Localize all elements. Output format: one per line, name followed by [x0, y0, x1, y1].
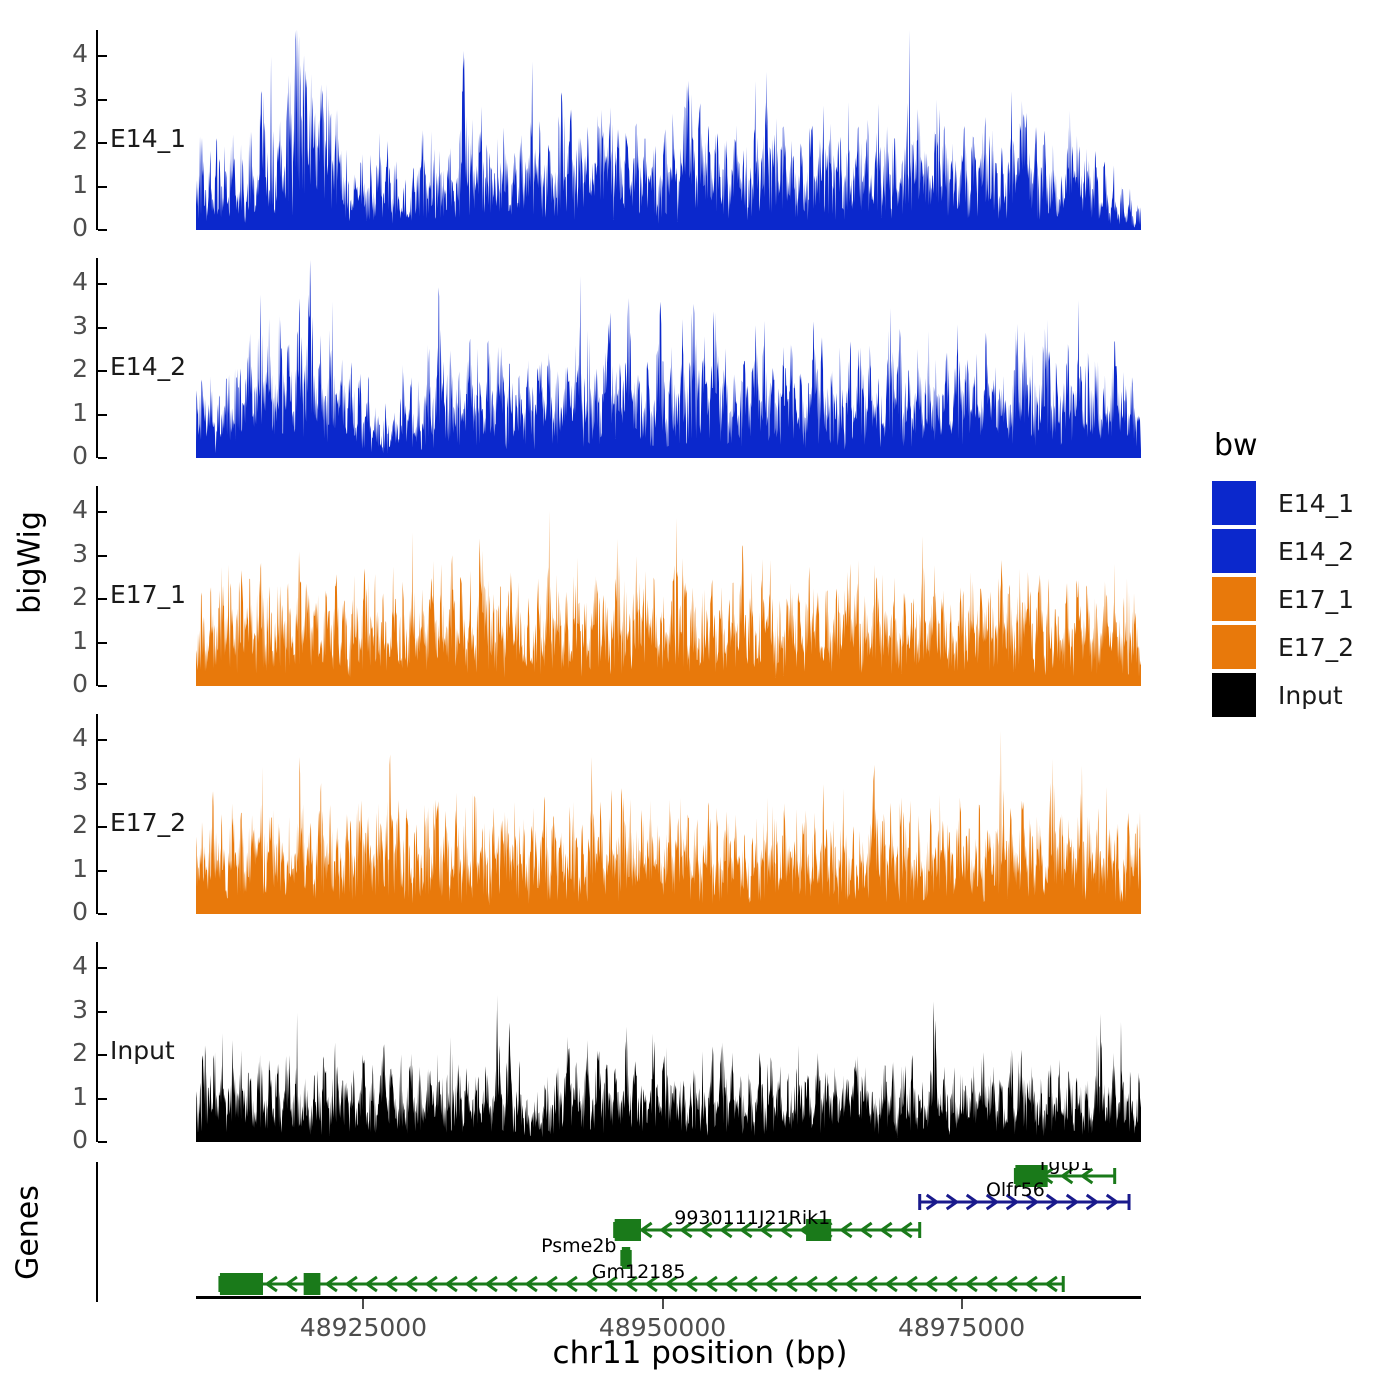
gene-olfr56[interactable]: Olfr56 — [920, 1179, 1129, 1210]
y-tick-label: 3 — [48, 769, 88, 794]
y-tick — [98, 457, 107, 459]
y-tick-label: 3 — [48, 541, 88, 566]
coverage-plot-e14_2 — [196, 258, 1141, 458]
legend-title: bw — [1214, 428, 1354, 463]
y-tick — [98, 555, 107, 557]
track-label-e17_1: E17_1 — [110, 580, 186, 609]
legend-swatch-input — [1212, 673, 1256, 717]
y-tick — [98, 142, 107, 144]
track-axis-line — [96, 258, 98, 458]
x-tick — [362, 1299, 364, 1309]
y-tick — [98, 870, 107, 872]
gene-exon — [304, 1273, 321, 1295]
track-panel-e17_2: 01234E17_2 — [96, 714, 1141, 914]
track-label-input: Input — [110, 1036, 175, 1065]
x-axis-line — [196, 1296, 1141, 1299]
track-axis-line — [96, 486, 98, 686]
y-tick — [98, 1141, 107, 1143]
gene-exon — [615, 1219, 641, 1241]
track-axis-line — [96, 30, 98, 230]
y-tick — [98, 55, 107, 57]
genes-axis-line — [96, 1162, 98, 1302]
y-tick-label: 0 — [48, 899, 88, 924]
track-panel-e14_1: 01234E14_1 — [96, 30, 1141, 230]
y-tick-label: 2 — [48, 812, 88, 837]
genes-axis-title: Genes — [11, 1153, 46, 1313]
track-label-e14_1: E14_1 — [110, 124, 186, 153]
legend-label: E14_2 — [1278, 537, 1354, 566]
legend-item-e14_1[interactable]: E14_1 — [1212, 479, 1354, 527]
legend-swatch-e14_2 — [1212, 529, 1256, 573]
y-tick-label: 1 — [48, 400, 88, 425]
legend-label: E17_2 — [1278, 633, 1354, 662]
legend-items: E14_1E14_2E17_1E17_2Input — [1212, 479, 1354, 719]
genes-plot-area: Tgtp1Olfr569930111J21Rik1Psme2bGm12185 — [196, 1162, 1141, 1302]
coverage-plot-e14_1 — [196, 30, 1141, 230]
y-tick — [98, 414, 107, 416]
gene-label: Psme2b — [541, 1235, 616, 1257]
coverage-plot-e17_1 — [196, 486, 1141, 686]
y-tick — [98, 327, 107, 329]
legend-swatch-e17_1 — [1212, 577, 1256, 621]
track-axis-line — [96, 714, 98, 914]
legend-swatch-e17_2 — [1212, 625, 1256, 669]
y-tick — [98, 229, 107, 231]
gene-label: 9930111J21Rik1 — [674, 1207, 830, 1229]
y-tick — [98, 1098, 107, 1100]
track-label-e17_2: E17_2 — [110, 808, 186, 837]
gene-label: Olfr56 — [986, 1179, 1045, 1201]
track-panel-e17_1: 01234E17_1 — [96, 486, 1141, 686]
y-tick-label: 0 — [48, 215, 88, 240]
y-tick-label: 4 — [48, 41, 88, 66]
y-tick-label: 1 — [48, 628, 88, 653]
y-tick-label: 4 — [48, 953, 88, 978]
gene-exon — [220, 1273, 263, 1295]
coverage-plot-e17_2 — [196, 714, 1141, 914]
track-axis-line — [96, 942, 98, 1142]
y-tick-label: 3 — [48, 85, 88, 110]
y-tick-label: 0 — [48, 671, 88, 696]
y-tick-label: 3 — [48, 997, 88, 1022]
y-tick-label: 3 — [48, 313, 88, 338]
x-tick — [961, 1299, 963, 1309]
y-tick-label: 1 — [48, 1084, 88, 1109]
y-tick — [98, 1011, 107, 1013]
y-tick-label: 0 — [48, 1127, 88, 1152]
coverage-plot-input — [196, 942, 1141, 1142]
gene-label: Gm12185 — [592, 1261, 686, 1283]
y-tick-label: 2 — [48, 128, 88, 153]
y-tick — [98, 370, 107, 372]
y-tick — [98, 826, 107, 828]
y-tick-label: 1 — [48, 856, 88, 881]
gene-9930111j21rik1[interactable]: 9930111J21Rik1 — [615, 1207, 920, 1241]
gene-gm12185[interactable]: Gm12185 — [220, 1261, 1063, 1295]
y-tick-label: 4 — [48, 269, 88, 294]
y-tick-label: 4 — [48, 497, 88, 522]
legend: bw E14_1E14_2E17_1E17_2Input — [1212, 428, 1354, 719]
legend-item-e17_2[interactable]: E17_2 — [1212, 623, 1354, 671]
y-tick — [98, 186, 107, 188]
track-panel-e14_2: 01234E14_2 — [96, 258, 1141, 458]
y-tick — [98, 99, 107, 101]
legend-label: E17_1 — [1278, 585, 1354, 614]
y-tick — [98, 685, 107, 687]
genes-panel: Tgtp1Olfr569930111J21Rik1Psme2bGm12185 — [96, 1162, 1141, 1302]
y-tick — [98, 283, 107, 285]
y-tick-label: 0 — [48, 443, 88, 468]
x-tick — [662, 1299, 664, 1309]
y-tick-label: 2 — [48, 584, 88, 609]
legend-item-e14_2[interactable]: E14_2 — [1212, 527, 1354, 575]
legend-swatch-e14_1 — [1212, 481, 1256, 525]
y-tick-label: 1 — [48, 172, 88, 197]
track-panel-input: 01234Input — [96, 942, 1141, 1142]
y-tick — [98, 967, 107, 969]
x-axis-title: chr11 position (bp) — [0, 1335, 1400, 1371]
gene-label: Tgtp1 — [1036, 1162, 1092, 1175]
y-tick — [98, 598, 107, 600]
y-tick — [98, 739, 107, 741]
bigwig-axis-title: bigWig — [13, 478, 48, 648]
legend-item-e17_1[interactable]: E17_1 — [1212, 575, 1354, 623]
y-tick — [98, 1054, 107, 1056]
y-tick-label: 2 — [48, 356, 88, 381]
y-tick — [98, 511, 107, 513]
legend-label: Input — [1278, 681, 1343, 710]
y-tick — [98, 913, 107, 915]
legend-item-input[interactable]: Input — [1212, 671, 1354, 719]
y-tick — [98, 642, 107, 644]
y-tick — [98, 783, 107, 785]
y-tick-label: 2 — [48, 1040, 88, 1065]
legend-label: E14_1 — [1278, 489, 1354, 518]
y-tick-label: 4 — [48, 725, 88, 750]
track-label-e14_2: E14_2 — [110, 352, 186, 381]
